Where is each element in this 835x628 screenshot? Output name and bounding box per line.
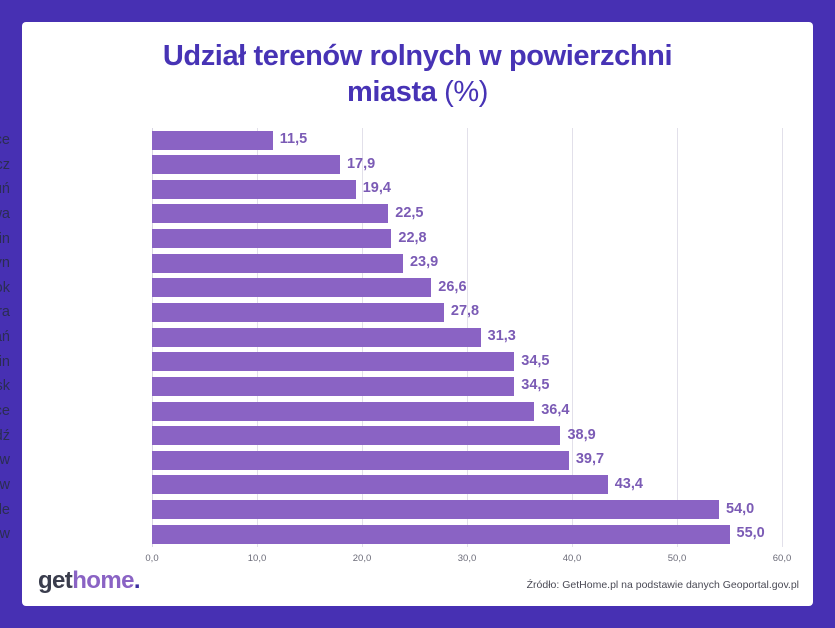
category-label: Białystok xyxy=(0,278,10,299)
bar-row[interactable]: 11,5 xyxy=(152,128,782,153)
category-label-row: Łódź xyxy=(0,424,10,449)
bar-row[interactable]: 19,4 xyxy=(152,177,782,202)
x-tick-label: 40,0 xyxy=(563,553,582,564)
x-tick-label: 10,0 xyxy=(248,553,267,564)
bar[interactable] xyxy=(152,475,608,494)
chart-card: Udział terenów rolnych w powierzchni mia… xyxy=(22,22,813,606)
logo-text-get: get xyxy=(38,567,72,594)
bar-value-label: 11,5 xyxy=(273,129,307,150)
category-label: Kielce xyxy=(0,401,10,422)
bar-row[interactable]: 39,7 xyxy=(152,448,782,473)
bar[interactable] xyxy=(152,180,356,199)
category-label: Łódź xyxy=(0,426,10,447)
bar-value-label: 34,5 xyxy=(514,351,549,372)
category-label: Warszawa xyxy=(0,204,10,225)
plot-area: 11,517,919,422,522,823,926,627,831,334,5… xyxy=(152,128,782,547)
bar-chart: KatowiceBydgoszczToruńWarszawaSzczecinOl… xyxy=(22,22,813,606)
bar-value-label: 19,4 xyxy=(356,178,391,199)
bar-row[interactable]: 26,6 xyxy=(152,276,782,301)
x-tick-label: 30,0 xyxy=(458,553,477,564)
logo-text-dot: . xyxy=(134,567,140,594)
source-note: Źródło: GetHome.pl na podstawie danych G… xyxy=(527,578,799,592)
category-label-row: Kraków xyxy=(0,473,10,498)
category-label: Zielona Góra xyxy=(0,302,10,323)
gethome-logo: gethome. xyxy=(38,567,140,595)
bar-row[interactable]: 23,9 xyxy=(152,251,782,276)
bar-row[interactable]: 54,0 xyxy=(152,498,782,523)
bar-value-label: 27,8 xyxy=(444,301,479,322)
category-label: Opole xyxy=(0,500,10,521)
category-label-row: Poznań xyxy=(0,325,10,350)
category-label-row: Rzeszów xyxy=(0,522,10,547)
category-label: Toruń xyxy=(0,179,10,200)
category-label: Gdańsk xyxy=(0,376,10,397)
bar-value-label: 22,5 xyxy=(388,203,423,224)
bar-row[interactable]: 22,5 xyxy=(152,202,782,227)
category-label: Katowice xyxy=(0,130,10,151)
bar[interactable] xyxy=(152,204,388,223)
bar-row[interactable]: 31,3 xyxy=(152,325,782,350)
bar-row[interactable]: 17,9 xyxy=(152,153,782,178)
bar[interactable] xyxy=(152,131,273,150)
category-label-row: Olsztyn xyxy=(0,251,10,276)
bar-row[interactable]: 36,4 xyxy=(152,399,782,424)
bar-value-label: 36,4 xyxy=(534,400,569,421)
bar-value-label: 54,0 xyxy=(719,499,754,520)
bar-row[interactable]: 27,8 xyxy=(152,300,782,325)
category-label-row: Warszawa xyxy=(0,202,10,227)
category-axis: KatowiceBydgoszczToruńWarszawaSzczecinOl… xyxy=(0,128,10,547)
bar-row[interactable]: 22,8 xyxy=(152,227,782,252)
bar-row[interactable]: 55,0 xyxy=(152,522,782,547)
category-label-row: Bydgoszcz xyxy=(0,153,10,178)
gridline xyxy=(782,128,783,547)
bar[interactable] xyxy=(152,155,340,174)
bar-value-label: 43,4 xyxy=(608,474,643,495)
bar-value-label: 34,5 xyxy=(514,375,549,396)
bar[interactable] xyxy=(152,426,560,445)
bar[interactable] xyxy=(152,377,514,396)
category-label-row: Białystok xyxy=(0,276,10,301)
bar[interactable] xyxy=(152,402,534,421)
category-label: Rzeszów xyxy=(0,524,10,545)
bar-row[interactable]: 34,5 xyxy=(152,374,782,399)
bar-value-label: 23,9 xyxy=(403,252,438,273)
category-label: Lublin xyxy=(0,352,10,373)
bar-value-label: 26,6 xyxy=(431,277,466,298)
bar-value-label: 17,9 xyxy=(340,154,375,175)
category-label: Olsztyn xyxy=(0,253,10,274)
category-label-row: Zielona Góra xyxy=(0,300,10,325)
bar[interactable] xyxy=(152,229,391,248)
category-label-row: Kielce xyxy=(0,399,10,424)
category-label-row: Wrocław xyxy=(0,448,10,473)
x-tick-label: 60,0 xyxy=(773,553,792,564)
category-label: Poznań xyxy=(0,327,10,348)
bar-value-label: 38,9 xyxy=(560,425,595,446)
category-label-row: Lublin xyxy=(0,350,10,375)
category-label: Wrocław xyxy=(0,450,10,471)
bar-value-label: 39,7 xyxy=(569,449,604,470)
bar[interactable] xyxy=(152,303,444,322)
category-label-row: Gdańsk xyxy=(0,374,10,399)
category-label-row: Szczecin xyxy=(0,227,10,252)
bar-rows: 11,517,919,422,522,823,926,627,831,334,5… xyxy=(152,128,782,547)
bar-row[interactable]: 38,9 xyxy=(152,424,782,449)
x-tick-label: 0,0 xyxy=(145,553,158,564)
bar[interactable] xyxy=(152,525,730,544)
category-label: Bydgoszcz xyxy=(0,155,10,176)
poster-frame: Udział terenów rolnych w powierzchni mia… xyxy=(0,0,835,628)
logo-text-home: home xyxy=(72,567,134,594)
category-label-row: Opole xyxy=(0,498,10,523)
x-tick-label: 20,0 xyxy=(353,553,372,564)
bar-row[interactable]: 34,5 xyxy=(152,350,782,375)
bar[interactable] xyxy=(152,328,481,347)
bar-value-label: 31,3 xyxy=(481,326,516,347)
bar[interactable] xyxy=(152,451,569,470)
category-label: Kraków xyxy=(0,475,10,496)
category-label-row: Katowice xyxy=(0,128,10,153)
x-axis-ticks: 0,010,020,030,040,050,060,0 xyxy=(152,553,782,569)
x-tick-label: 50,0 xyxy=(668,553,687,564)
bar[interactable] xyxy=(152,352,514,371)
bar-value-label: 22,8 xyxy=(391,228,426,249)
bar-row[interactable]: 43,4 xyxy=(152,473,782,498)
category-label-row: Toruń xyxy=(0,177,10,202)
category-label: Szczecin xyxy=(0,229,10,250)
bar[interactable] xyxy=(152,500,719,519)
bar-value-label: 55,0 xyxy=(730,523,765,544)
bar[interactable] xyxy=(152,278,431,297)
bar[interactable] xyxy=(152,254,403,273)
